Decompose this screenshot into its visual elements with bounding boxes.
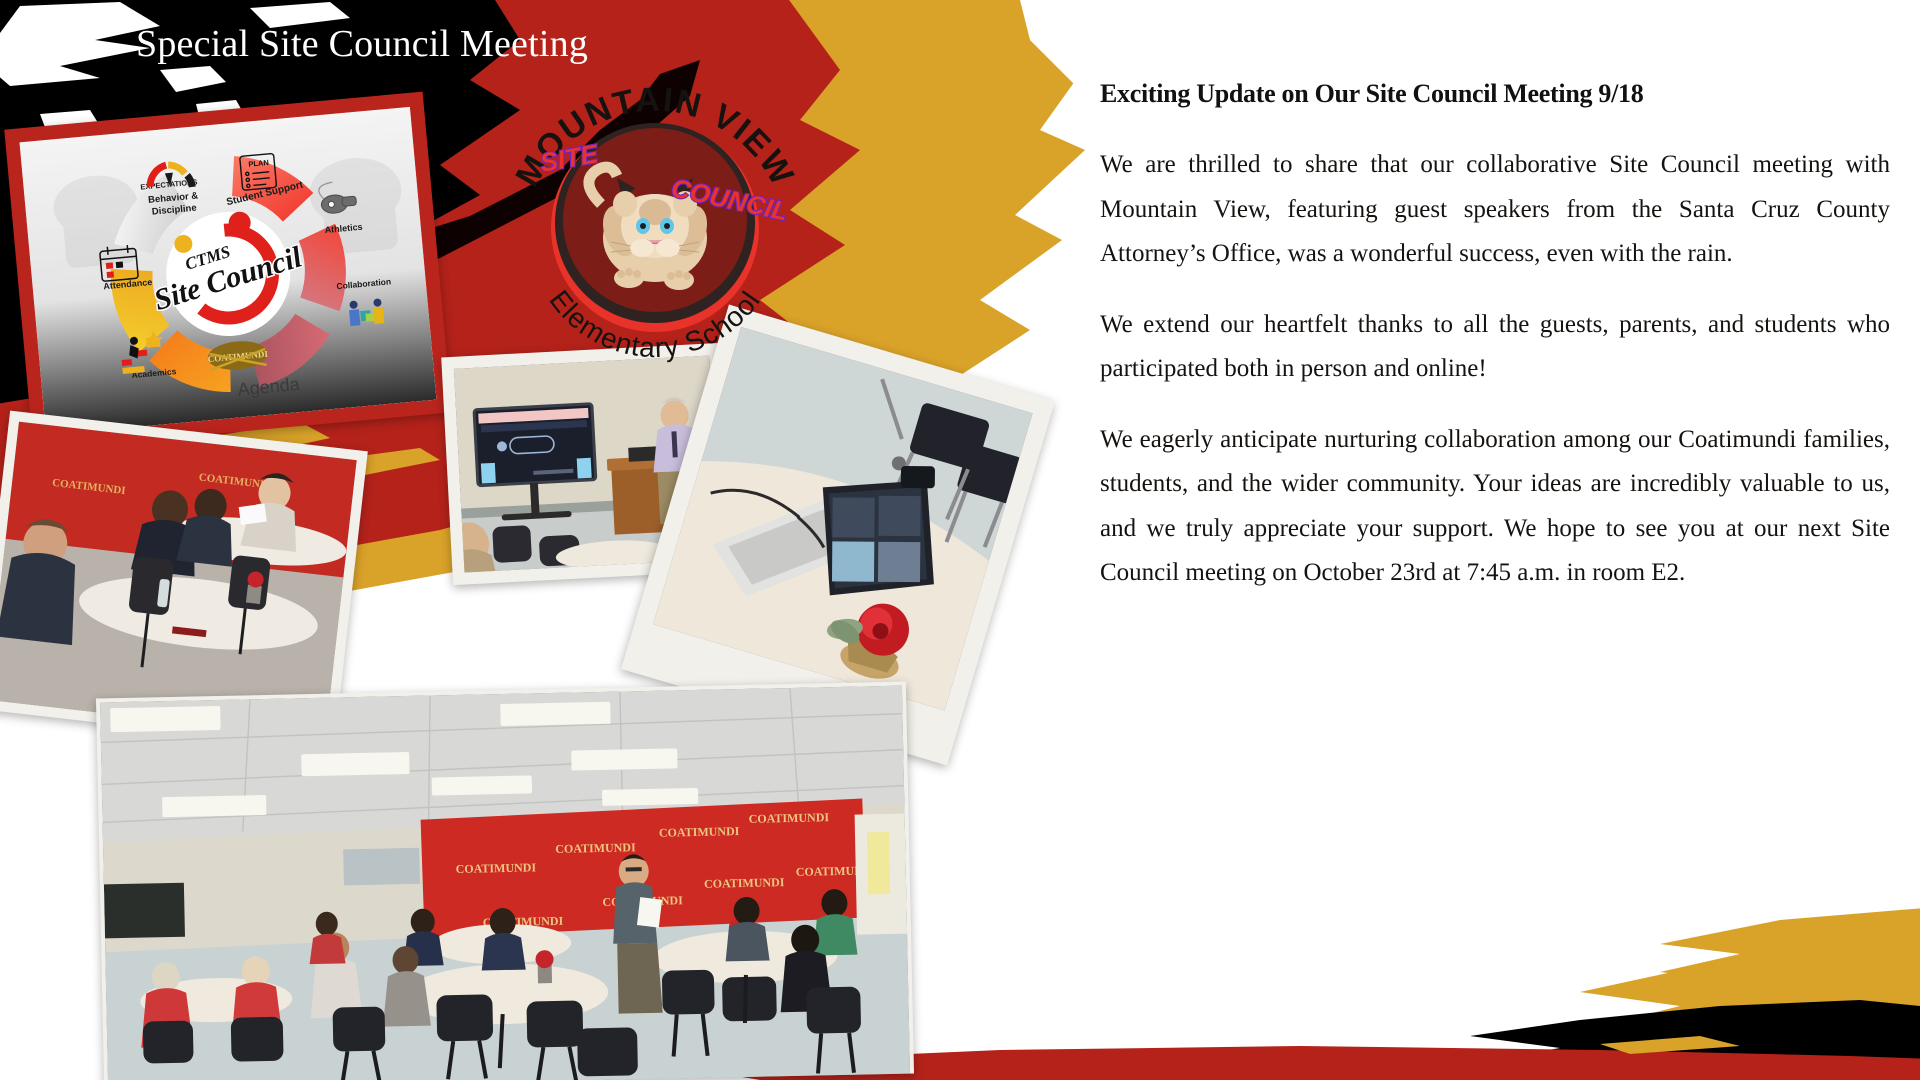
page-title: Special Site Council Meeting xyxy=(136,22,588,66)
slide-canvas: Special Site Council Meeting xyxy=(0,0,1920,1080)
mountain-view-elementary-logo: MOUNTAIN VIEW Elementary School SITE COU… xyxy=(490,60,820,390)
svg-text:PLAN: PLAN xyxy=(248,158,269,169)
article-heading: Exciting Update on Our Site Council Meet… xyxy=(1100,78,1890,109)
svg-text:COATIMUNDI: COATIMUNDI xyxy=(704,875,785,891)
svg-text:COATIMUNDI: COATIMUNDI xyxy=(749,810,830,826)
article-paragraph-1: We are thrilled to share that our collab… xyxy=(1100,143,1890,277)
article-paragraph-3: We eagerly anticipate nurturing collabor… xyxy=(1100,418,1890,596)
agenda-wheel-graphic: EXPECTATIONS Behavior & Discipline Stude… xyxy=(19,107,436,435)
article-paragraph-2: We extend our heartfelt thanks to all th… xyxy=(1100,303,1890,392)
svg-text:COATIMUNDI: COATIMUNDI xyxy=(555,840,636,856)
svg-text:COATIMUNDI: COATIMUNDI xyxy=(455,860,536,876)
svg-text:COATIMUNDI: COATIMUNDI xyxy=(659,824,740,840)
article-text-column: Exciting Update on Our Site Council Meet… xyxy=(1100,78,1890,596)
photo-multipurpose-room-meeting: COATIMUNDICOATIMUNDI COATIMUNDICOATIMUND… xyxy=(96,682,914,1080)
photo-site-council-agenda-wheel: EXPECTATIONS Behavior & Discipline Stude… xyxy=(4,92,451,451)
